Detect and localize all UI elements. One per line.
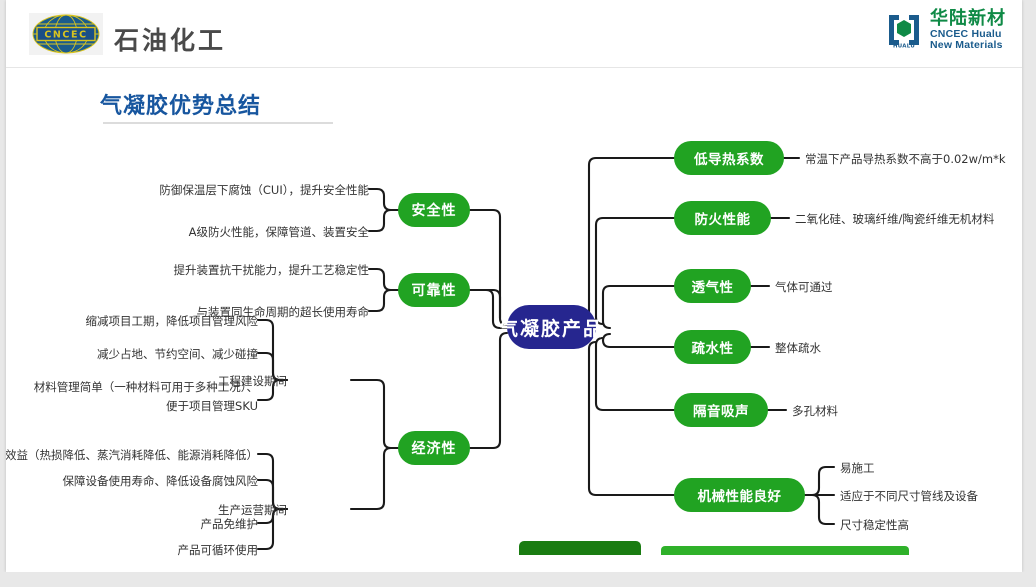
hualu-cn-name: 华陆新材 xyxy=(930,10,1006,29)
leaf-sound-insulation-1: 多孔材料 xyxy=(792,403,838,420)
branch-node-low-thermal-conductivity[interactable]: 低导热系数 xyxy=(674,141,784,175)
leaf-mechanical-3: 尺寸稳定性高 xyxy=(840,517,909,534)
leaf-fire-resistance-1: 二氧化硅、玻璃纤维/陶瓷纤维无机材料 xyxy=(795,211,994,228)
viewport-bottom-strip xyxy=(0,572,1036,587)
leaf-operation-2: 保障设备使用寿命、降低设备腐蚀风险 xyxy=(63,473,259,490)
leaf-safety-1: 防御保温层下腐蚀（CUI），提升安全性能 xyxy=(159,182,369,199)
leaf-mechanical-1: 易施工 xyxy=(840,460,875,477)
header-divider xyxy=(6,67,1022,68)
bottom-bar-light xyxy=(661,546,909,555)
cncec-logo: CNCEC xyxy=(29,13,103,55)
leaf-construction-3-cont: 便于项目管理SKU xyxy=(166,398,258,415)
branch-node-safety[interactable]: 安全性 xyxy=(398,193,470,227)
mindmap-center-node[interactable]: 气凝胶产品 xyxy=(507,305,596,349)
leaf-operation-4: 产品可循环使用 xyxy=(178,542,259,559)
leaf-construction-3: 材料管理简单（一种材料可用于多种工况）、 xyxy=(34,379,258,396)
hualu-mark-text: HUALU xyxy=(893,44,915,50)
hualu-hexagon-icon: HUALU xyxy=(885,11,923,49)
bottom-bar-dark xyxy=(519,541,641,555)
leaf-reliability-1: 提升装置抗干扰能力，提升工艺稳定性 xyxy=(174,262,370,279)
leaf-breathability-1: 气体可通过 xyxy=(775,279,833,296)
leaf-low-thermal-1: 常温下产品导热系数不高于0.02w/m*k xyxy=(805,151,1006,168)
page-title: 气凝胶优势总结 xyxy=(100,88,261,120)
brand-title: 石油化工 xyxy=(114,21,226,57)
branch-node-economy[interactable]: 经济性 xyxy=(398,431,470,465)
mindmap: 气凝胶产品 安全性 可靠性 经济性 工程建设期间 生产运营期间 防御保温层下腐蚀… xyxy=(6,128,1022,572)
leaf-mechanical-2: 适应于不同尺寸管线及设备 xyxy=(840,488,978,505)
hualu-logo: HUALU 华陆新材 CNCEC Hualu New Materials xyxy=(885,10,1006,51)
title-underline xyxy=(103,122,333,124)
leaf-operation-3: 产品免维护 xyxy=(201,516,259,533)
hualu-en-line2: New Materials xyxy=(930,40,1006,51)
cncec-logo-text: CNCEC xyxy=(44,30,87,41)
leaf-construction-2: 减少占地、节约空间、减少碰撞 xyxy=(97,346,258,363)
branch-node-fire-resistance[interactable]: 防火性能 xyxy=(674,201,771,235)
leaf-safety-2: A级防火性能，保障管道、装置安全 xyxy=(189,224,369,241)
leaf-hydrophobicity-1: 整体疏水 xyxy=(775,340,821,357)
branch-node-hydrophobicity[interactable]: 疏水性 xyxy=(674,330,751,364)
leaf-construction-1: 缩减项目工期，降低项目管理风险 xyxy=(86,313,259,330)
hualu-wordmark: 华陆新材 CNCEC Hualu New Materials xyxy=(930,10,1006,51)
branch-node-breathability[interactable]: 透气性 xyxy=(674,269,751,303)
branch-node-mechanical-performance[interactable]: 机械性能良好 xyxy=(674,478,805,512)
slide-page: CNCEC 石油化工 HUALU 华陆新材 CNCEC Hualu New Ma… xyxy=(6,0,1022,572)
branch-node-reliability[interactable]: 可靠性 xyxy=(398,273,470,307)
branch-node-sound-insulation[interactable]: 隔音吸声 xyxy=(674,393,768,427)
slide-header: CNCEC 石油化工 HUALU 华陆新材 CNCEC Hualu New Ma… xyxy=(6,0,1022,68)
leaf-operation-1: 节能效益（热损降低、蒸汽消耗降低、能源消耗降低） xyxy=(6,447,258,464)
